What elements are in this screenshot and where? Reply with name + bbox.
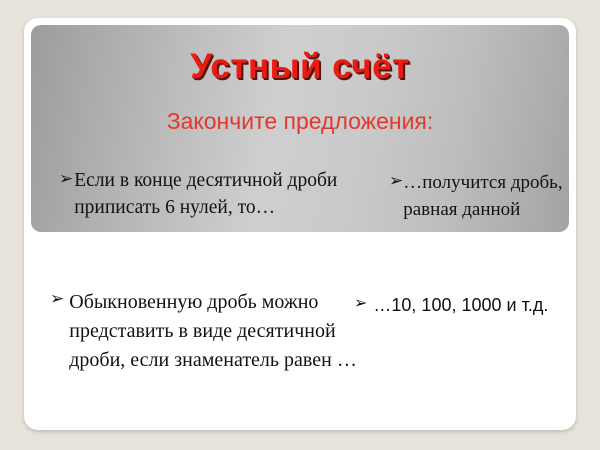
statement-bottom-right: ➢ …10, 100, 1000 и т.д. [354,293,576,318]
slide-header-panel: Устный счёт Закончите предложения: ➢ Есл… [31,25,569,232]
statement-text: …получится дробь, равная данной [403,170,576,224]
statement-text: …10, 100, 1000 и т.д. [373,293,576,318]
statement-bottom-left: ➢ Обыкновенную дробь можно представить в… [50,288,360,375]
statement-text: Если в конце десятичной дроби приписать … [74,168,359,221]
arrow-bullet-icon: ➢ [50,288,64,310]
slide-card: Устный счёт Закончите предложения: ➢ Есл… [24,18,576,430]
statement-text: Обыкновенную дробь можно представить в в… [69,288,360,375]
slide-subtitle: Закончите предложения: [31,108,569,135]
statement-top-left: ➢ Если в конце десятичной дроби приписат… [59,168,359,221]
arrow-bullet-icon: ➢ [354,293,367,314]
page-title: Устный счёт [31,47,569,87]
arrow-bullet-icon: ➢ [59,168,73,190]
statement-top-right: ➢ …получится дробь, равная данной [389,170,576,224]
arrow-bullet-icon: ➢ [389,170,403,192]
